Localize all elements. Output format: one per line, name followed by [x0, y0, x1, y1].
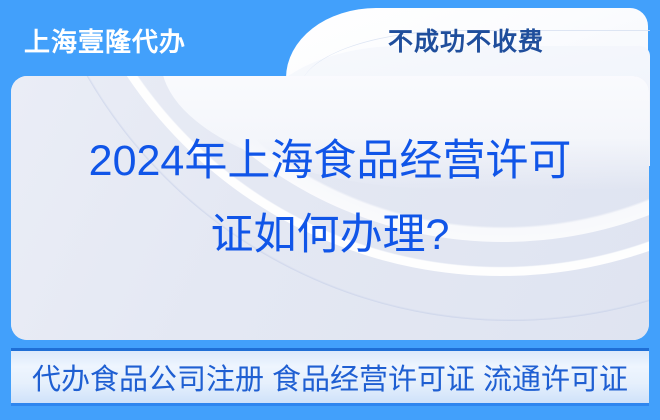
poster-banner: 上海壹隆代办 不成功不收费 2024年上海食品经营许可 证如何办理? 代办食品公…: [0, 0, 660, 420]
slogan-text: 不成功不收费: [286, 22, 646, 58]
keyword-footer-bar: 代办食品公司注册 食品经营许可证 流通许可证: [11, 348, 649, 406]
page-title-line-1: 2024年上海食品经营许可: [11, 124, 649, 198]
main-card: 2024年上海食品经营许可 证如何办理?: [11, 76, 649, 340]
page-title-line-2: 证如何办理?: [11, 198, 649, 272]
brand-title: 上海壹隆代办: [24, 22, 186, 59]
footer-keywords: 代办食品公司注册 食品经营许可证 流通许可证: [32, 356, 628, 398]
page-title: 2024年上海食品经营许可 证如何办理?: [11, 124, 649, 272]
